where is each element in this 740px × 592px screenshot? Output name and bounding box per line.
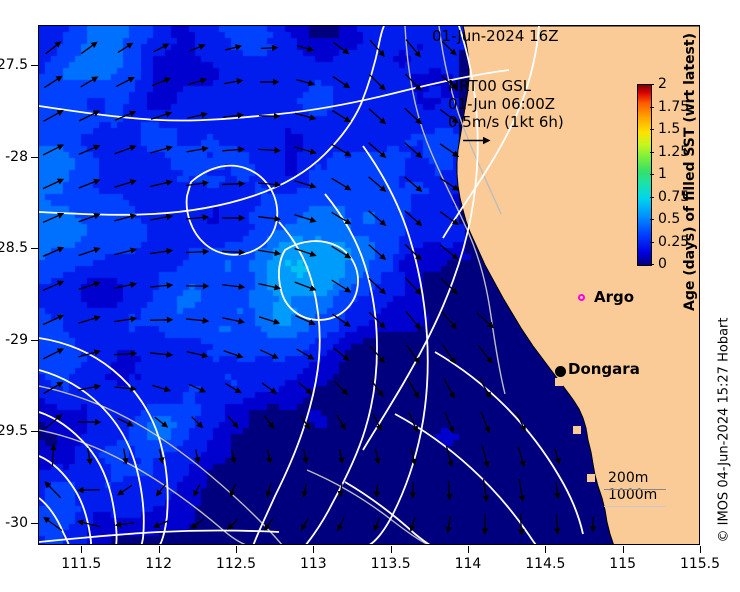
y-axis-tick: [31, 431, 38, 432]
colorbar-tick: [650, 242, 654, 243]
current-vector-arrow: [118, 43, 132, 52]
colorbar-tick: [650, 129, 654, 130]
current-vector-arrow: [79, 180, 99, 188]
vector-scale-label: 0.5m/s (1kt 6h): [448, 113, 564, 131]
credit-label: © IMOS 04-Jun-2024 15:27 Hobart: [717, 318, 732, 543]
current-vector-arrow: [267, 484, 270, 497]
current-vector-arrow: [259, 317, 279, 323]
current-vector-arrow: [150, 353, 172, 355]
y-axis-label: -27.5: [0, 57, 28, 73]
current-vector-arrow: [297, 46, 313, 50]
current-vector-arrow: [222, 318, 244, 322]
current-vector-arrow: [228, 416, 237, 427]
map-canvas: [39, 26, 699, 544]
current-vector-arrow: [43, 145, 63, 155]
current-vector-arrow: [369, 177, 386, 191]
x-axis-tick: [81, 546, 82, 553]
bathymetry-200m-label: 200m: [608, 470, 648, 486]
current-vector-arrow: [332, 212, 351, 223]
current-vector-arrow: [45, 482, 60, 498]
x-axis-label: 114.5: [525, 556, 565, 572]
y-axis-label: -29: [5, 332, 28, 348]
x-axis-tick: [623, 546, 624, 553]
timestamp-label: 01-Jun-2024 16Z: [432, 27, 559, 45]
current-vector-arrow: [44, 76, 61, 87]
current-vector-arrow: [448, 516, 451, 532]
x-axis-tick: [700, 546, 701, 553]
current-vector-arrow: [225, 46, 241, 50]
current-vector-arrow: [481, 412, 489, 432]
x-axis-tick: [545, 546, 546, 553]
current-vector-arrow: [369, 74, 385, 89]
colorbar-title: Age (days) of filled SST (wrt latest): [682, 33, 698, 311]
current-vector-arrow: [150, 147, 171, 153]
current-vector-arrow: [407, 345, 420, 363]
current-vector-arrow: [224, 80, 242, 83]
current-vector-arrow: [332, 110, 350, 121]
dongara-marker-icon: [555, 366, 566, 377]
current-vector-arrow: [191, 520, 202, 528]
colorbar-tick: [650, 174, 654, 175]
current-vector-arrow: [43, 248, 63, 257]
current-vector-arrow: [405, 74, 420, 90]
current-vector-arrow: [157, 484, 166, 495]
current-vector-arrow: [448, 481, 449, 499]
current-vector-arrow: [405, 143, 422, 157]
current-vector-arrow: [150, 182, 171, 187]
current-vector-arrow: [114, 353, 136, 354]
y-axis-tick: [31, 65, 38, 66]
current-vector-arrow: [222, 251, 244, 252]
current-vector-arrow: [440, 144, 458, 156]
current-vector-arrow: [81, 42, 96, 53]
current-vector-arrow: [258, 284, 279, 289]
current-vector-arrow: [43, 282, 63, 291]
current-vector-arrow: [337, 415, 345, 429]
current-vector-arrow: [43, 111, 62, 122]
current-vector-arrow: [440, 245, 457, 259]
current-vector-arrow: [369, 245, 385, 260]
current-vector-arrow: [413, 483, 414, 498]
y-axis-label: -29.5: [0, 423, 28, 439]
current-vector-arrow: [265, 416, 274, 428]
current-vector-arrow: [444, 378, 454, 397]
current-vector-arrow: [405, 278, 420, 294]
colorbar-tick-label: 0: [658, 256, 667, 272]
current-vector-arrow: [150, 250, 172, 253]
colorbar-tick-label: 2: [658, 76, 667, 92]
current-vector-arrow: [186, 183, 208, 186]
current-vector-arrow: [556, 482, 558, 498]
current-vector-arrow: [369, 109, 385, 124]
y-axis-tick: [31, 523, 38, 524]
current-vector-arrow: [442, 312, 456, 329]
colorbar-tick: [650, 197, 654, 198]
x-axis-tick: [468, 546, 469, 553]
colorbar-tick-label: 0.5: [658, 211, 680, 227]
colorbar-tick: [650, 264, 654, 265]
current-vector-arrow: [369, 143, 386, 157]
map-plot-area[interactable]: [38, 25, 700, 545]
current-vector-arrow: [81, 77, 98, 87]
current-vector-arrow: [304, 449, 307, 462]
current-vector-arrow: [268, 449, 271, 462]
current-vector-arrow: [114, 249, 135, 254]
y-axis-tick: [31, 157, 38, 158]
current-vector-arrow: [78, 351, 99, 357]
current-vector-arrow: [334, 348, 349, 360]
current-vector-arrow: [79, 248, 100, 255]
current-vector-arrow: [374, 518, 379, 531]
current-vector-arrow: [333, 77, 349, 88]
current-vector-arrow: [154, 44, 169, 52]
x-axis-label: 113.5: [371, 556, 411, 572]
current-vector-arrow: [78, 317, 99, 323]
current-vector-arrow: [407, 378, 418, 397]
current-vector-arrow: [187, 352, 208, 357]
current-vector-arrow: [478, 345, 492, 362]
current-vector-arrow: [43, 315, 63, 324]
current-vector-arrow: [265, 518, 273, 529]
x-axis-label: 114: [455, 556, 482, 572]
current-vector-arrow: [482, 445, 488, 466]
y-axis-label: -28: [5, 149, 28, 165]
current-vector-arrow: [335, 382, 347, 395]
bathymetry-contours: [39, 26, 505, 544]
reference-arrow-icon: [462, 136, 496, 145]
current-vector-arrow: [261, 48, 277, 49]
current-vector-arrow: [375, 449, 378, 464]
current-vector-arrow: [116, 78, 133, 87]
current-vector-arrow: [445, 412, 453, 432]
current-vector-arrow: [295, 181, 316, 187]
current-vector-arrow: [411, 517, 415, 531]
current-vector-arrow: [222, 184, 244, 185]
x-axis-label: 115: [609, 556, 636, 572]
colorbar[interactable]: [637, 84, 652, 266]
current-vector-arrow: [224, 351, 243, 357]
current-vector-arrow: [114, 284, 136, 288]
current-vector-arrow: [188, 79, 206, 84]
current-vector-arrow: [186, 319, 208, 321]
current-vector-arrow: [440, 178, 458, 190]
x-axis-label: 113: [300, 556, 327, 572]
current-vector-arrow: [190, 45, 205, 51]
current-vector-arrow: [334, 43, 349, 54]
current-vector-arrow: [150, 216, 172, 220]
current-vector-arrow: [222, 149, 243, 151]
y-axis-tick: [31, 340, 38, 341]
colorbar-tick: [650, 107, 654, 108]
current-vector-arrow: [295, 113, 315, 118]
current-vector-arrow: [115, 181, 136, 188]
current-vector-arrow: [258, 149, 279, 150]
current-vector-arrow: [295, 249, 316, 256]
argo-legend-label: Argo: [594, 288, 634, 306]
current-vector-arrow: [151, 113, 171, 120]
current-vector-arrow: [296, 80, 314, 85]
current-vector-arrow: [295, 215, 316, 222]
current-vector-arrow: [116, 523, 134, 525]
current-vector-arrow: [79, 283, 100, 290]
current-vector-arrow: [338, 518, 344, 531]
current-vector-arrow: [43, 214, 63, 223]
y-axis-tick: [31, 248, 38, 249]
bathymetry-1000m-line: [604, 506, 666, 507]
current-vector-arrow: [376, 483, 377, 496]
current-vector-arrow: [189, 384, 205, 391]
colorbar-tick: [650, 84, 654, 85]
colorbar-tick: [650, 219, 654, 220]
current-vector-arrow: [186, 251, 208, 252]
current-vector-arrow: [228, 519, 238, 529]
colorbar-tick-label: 1.5: [658, 121, 680, 137]
x-axis-tick: [159, 546, 160, 553]
dongara-city-label: Dongara: [568, 360, 640, 378]
current-vector-arrow: [115, 146, 136, 153]
x-axis-tick: [236, 546, 237, 553]
current-vector-arrow: [480, 378, 491, 397]
current-vector-arrow: [405, 211, 421, 226]
x-axis-label: 115.5: [680, 556, 720, 572]
x-axis-tick: [313, 546, 314, 553]
current-vector-arrow: [406, 40, 420, 57]
current-vector-arrow: [79, 214, 100, 221]
current-vector-arrow: [260, 350, 278, 358]
current-vector-arrow: [43, 349, 63, 359]
current-vector-arrow: [304, 484, 307, 497]
bathymetry-200m-line: [604, 489, 666, 490]
current-vector-arrow: [118, 485, 132, 495]
current-vector-arrow: [556, 514, 557, 533]
current-vector-arrow: [520, 513, 521, 534]
current-vector-arrow: [593, 517, 594, 531]
current-vector-arrow: [194, 484, 200, 495]
current-vector-arrow: [192, 417, 203, 428]
current-vector-arrow: [340, 449, 343, 463]
current-vector-arrow: [187, 114, 206, 118]
y-axis-label: -28.5: [0, 240, 28, 256]
argo-marker-icon: [578, 294, 585, 301]
current-vector-arrow: [332, 314, 350, 326]
current-vector-arrow: [406, 311, 420, 328]
current-vector-arrow: [114, 318, 136, 321]
x-axis-label: 112: [145, 556, 172, 572]
valid-time-label: 01-Jun 06:00Z: [448, 95, 555, 113]
current-vector-arrow: [519, 479, 522, 501]
current-vector-arrow: [155, 417, 167, 427]
current-vector-arrow: [196, 450, 199, 463]
current-vector-arrow: [518, 446, 524, 466]
current-vector-arrow: [332, 144, 351, 155]
current-vector-arrow: [187, 148, 208, 152]
current-vector-arrow: [555, 449, 559, 464]
current-vector-arrow: [222, 285, 244, 288]
current-vector-arrow: [405, 177, 422, 191]
current-vector-arrow: [299, 382, 312, 393]
current-vector-arrow: [225, 383, 240, 392]
current-vector-arrow: [332, 178, 351, 189]
product-label: NRT00 GSL: [448, 77, 531, 95]
current-vector-arrow: [78, 386, 100, 390]
x-axis-tick: [391, 546, 392, 553]
current-vector-arrow: [302, 518, 309, 530]
current-vector-arrow: [517, 413, 525, 431]
map-overlay: [39, 26, 699, 544]
current-vector-arrow: [262, 383, 276, 393]
colorbar-tick-label: 1: [658, 166, 667, 182]
current-vector-arrow: [152, 78, 170, 85]
x-axis-label: 112.5: [216, 556, 256, 572]
current-vector-arrow: [294, 147, 315, 153]
current-vector-arrow: [114, 215, 135, 221]
current-vector-arrow: [232, 449, 235, 462]
current-vector-arrow: [369, 211, 386, 225]
colorbar-tick: [650, 152, 654, 153]
current-vector-arrow: [297, 349, 314, 359]
x-axis-label: 111.5: [61, 556, 101, 572]
current-vector-arrow: [152, 385, 170, 390]
y-axis-label: -30: [5, 515, 28, 531]
current-vector-arrow: [150, 285, 172, 287]
current-vector-arrow: [43, 179, 63, 188]
current-vector-arrow: [79, 146, 99, 155]
current-vector-arrow: [258, 250, 280, 254]
current-vector-arrow: [46, 42, 61, 54]
current-vector-arrow: [332, 280, 351, 292]
